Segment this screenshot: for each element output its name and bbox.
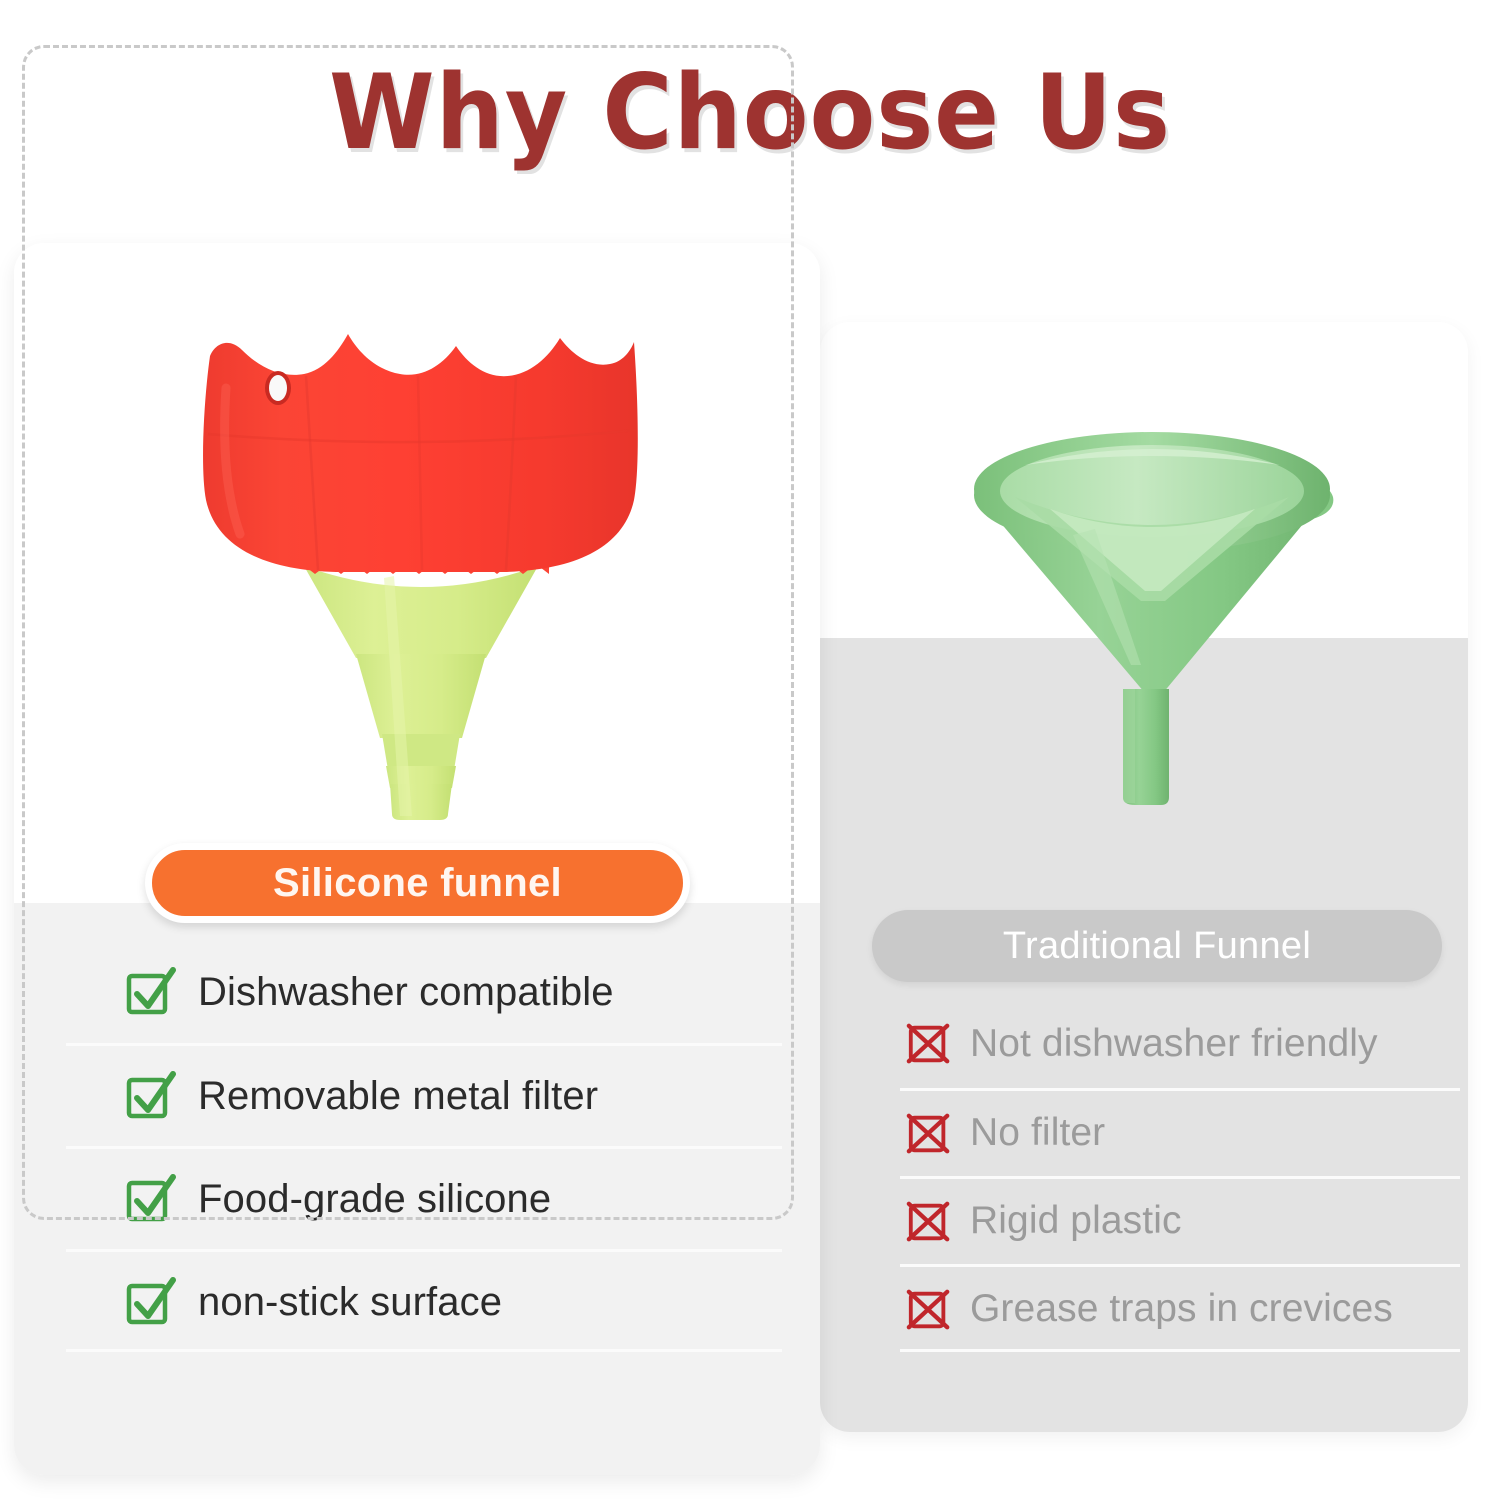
red-silicone-flower-funnel-image — [186, 318, 656, 823]
green-plastic-traditional-funnel-image — [955, 425, 1385, 815]
list-item-label: Rigid plastic — [970, 1200, 1182, 1243]
check-box-icon — [124, 1173, 176, 1225]
traditional-funnel-badge: Traditional Funnel — [872, 910, 1442, 982]
list-item-label: Dishwasher compatible — [198, 970, 614, 1014]
cross-box-icon — [906, 1287, 952, 1333]
silicone-funnel-badge: Silicone funnel — [145, 843, 690, 923]
list-item: Grease traps in crevices — [900, 1264, 1460, 1352]
list-item-label: Grease traps in crevices — [970, 1288, 1393, 1331]
cross-box-icon — [906, 1021, 952, 1067]
silicone-feature-list: Dishwasher compatible Removable metal fi… — [66, 940, 782, 1352]
list-item: Rigid plastic — [900, 1176, 1460, 1264]
list-item-label: non-stick surface — [198, 1280, 502, 1324]
list-item: No filter — [900, 1088, 1460, 1176]
check-box-icon — [124, 966, 176, 1018]
list-item: Removable metal filter — [66, 1043, 782, 1146]
list-item-label: Not dishwasher friendly — [970, 1023, 1378, 1066]
list-item: non-stick surface — [66, 1249, 782, 1352]
page-title: Why Choose Us — [53, 62, 1448, 165]
list-item: Not dishwasher friendly — [900, 1000, 1460, 1088]
list-item-label: No filter — [970, 1112, 1105, 1155]
list-item: Food-grade silicone — [66, 1146, 782, 1249]
silicone-funnel-badge-label: Silicone funnel — [273, 861, 562, 906]
list-item: Dishwasher compatible — [66, 940, 782, 1043]
check-box-icon — [124, 1070, 176, 1122]
cross-box-icon — [906, 1199, 952, 1245]
list-item-label: Removable metal filter — [198, 1074, 598, 1118]
check-box-icon — [124, 1276, 176, 1328]
cross-box-icon — [906, 1111, 952, 1157]
traditional-feature-list: Not dishwasher friendly No filter Rigid … — [900, 1000, 1460, 1352]
list-item-label: Food-grade silicone — [198, 1177, 551, 1221]
traditional-funnel-badge-label: Traditional Funnel — [1003, 925, 1311, 968]
